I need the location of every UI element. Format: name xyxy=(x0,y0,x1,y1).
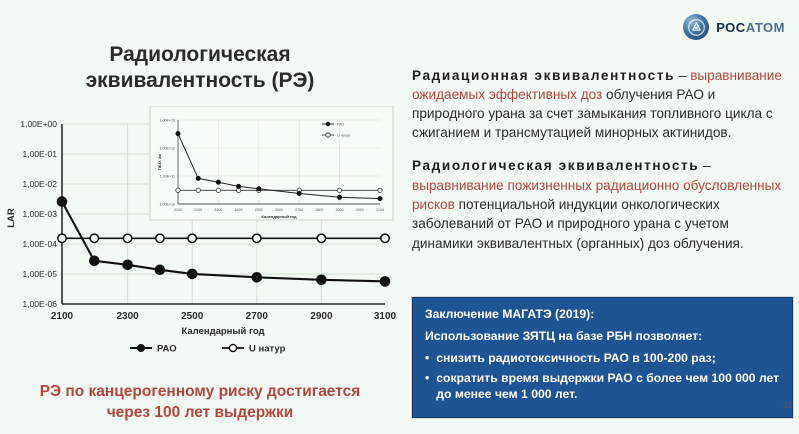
inset-x-tick-10: 3100 xyxy=(376,208,384,212)
main-chart-legend: РАО U натур xyxy=(130,344,286,355)
bullet-icon-1: • xyxy=(425,370,429,403)
chart-title-line2: эквивалентность (РЭ) xyxy=(30,68,370,94)
inset-y-axis-label: ПБО, Зв xyxy=(157,153,162,170)
main-x-tick-labels: 2100 2300 2500 2700 2900 3100 xyxy=(51,311,397,322)
x-tick-0: 2100 xyxy=(51,311,74,322)
iaea-box-item-text-0: снизить радиотоксичность РАО в 100-200 р… xyxy=(436,350,715,366)
inset-x-tick-3: 2400 xyxy=(235,208,243,212)
inset-x-tick-7: 2800 xyxy=(315,208,323,212)
bullet-icon-0: • xyxy=(425,350,429,366)
page-number: 31 xyxy=(783,400,793,410)
inset-legend-label-u-natur: U натур xyxy=(337,134,350,138)
main-y-tick-labels: 1,00E+00 1,00E-01 1,00E-02 1,00E-03 1,00… xyxy=(20,119,57,309)
rosatom-logo: РОСАТОМ xyxy=(683,14,785,40)
x-tick-1: 2300 xyxy=(116,311,139,322)
rosatom-trefoil-icon xyxy=(683,14,709,40)
term-radiation-equivalence: Радиационная эквивалентность xyxy=(412,68,675,83)
left-column: Радиологическая эквивалентность (РЭ) xyxy=(0,34,400,434)
conclusion-note-line1: РЭ по канцерогенному риску достигается xyxy=(10,382,390,403)
y-tick-2: 1,00E-02 xyxy=(23,179,58,189)
rosatom-wordmark: РОСАТОМ xyxy=(716,20,785,35)
definition-radiological-equivalence: Радиологическая эквивалентность – выравн… xyxy=(412,156,787,252)
inset-x-tick-9: 3000 xyxy=(356,208,364,212)
inset-x-tick-6: 2700 xyxy=(295,208,303,212)
inset-y-tick-2: 1,00E+11 xyxy=(160,175,175,179)
right-column: Радиационная эквивалентность – выравнива… xyxy=(412,52,787,266)
y-tick-6: 1,00E-06 xyxy=(23,299,58,309)
x-tick-2: 2500 xyxy=(181,311,204,322)
iaea-box-item-text-1: сократить время выдержки РАО с более чем… xyxy=(436,370,780,403)
iaea-box-subheading: Использование ЗЯТЦ на базе РБН позволяет… xyxy=(425,328,780,345)
y-tick-5: 1,00E-05 xyxy=(23,269,58,279)
inset-x-tick-8: 2900 xyxy=(336,208,344,212)
radiological-equivalence-chart: 1,00E+00 1,00E-01 1,00E-02 1,00E-03 1,00… xyxy=(0,106,400,358)
dash-1: – xyxy=(699,158,710,173)
conclusion-note-line2: через 100 лет выдержки xyxy=(10,403,390,424)
iaea-box-heading: Заключение МАГАТЭ (2019): xyxy=(425,306,780,323)
conclusion-note: РЭ по канцерогенному риску достигается ч… xyxy=(10,382,390,424)
inset-x-tick-5: 2600 xyxy=(275,208,283,212)
y-tick-1: 1,00E-01 xyxy=(23,149,58,159)
inset-x-tick-0: 2100 xyxy=(174,208,182,212)
definition-radiation-equivalence: Радиационная эквивалентность – выравнива… xyxy=(412,66,787,143)
logo-text-bold: РОС xyxy=(716,20,746,35)
iaea-box-item-1: • сократить время выдержки РАО с более ч… xyxy=(425,370,780,403)
logo-text-light: АТОМ xyxy=(746,20,785,35)
rest-1: потенциальной индукции онкологических за… xyxy=(412,197,744,251)
main-y-axis-label: LAR xyxy=(6,208,17,228)
x-tick-3: 2700 xyxy=(246,311,269,322)
dash-0: – xyxy=(675,68,690,83)
chart-title: Радиологическая эквивалентность (РЭ) xyxy=(0,42,400,93)
inset-x-axis-label: Календарный год xyxy=(262,214,297,219)
y-tick-3: 1,00E-03 xyxy=(23,209,58,219)
main-x-axis-label: Календарный год xyxy=(181,326,264,337)
iaea-conclusion-box: Заключение МАГАТЭ (2019): Использование … xyxy=(412,297,793,418)
inset-x-tick-1: 2200 xyxy=(194,208,202,212)
iaea-box-item-0: • снизить радиотоксичность РАО в 100-200… xyxy=(425,350,780,366)
slide: РОСАТОМ Радиологическая эквивалентность … xyxy=(0,0,799,434)
inset-y-tick-1: 1,00E+12 xyxy=(160,147,176,151)
legend-label-u-natur: U натур xyxy=(249,344,286,355)
x-tick-5: 3100 xyxy=(374,311,397,322)
term-radiological-equivalence: Радиологическая эквивалентность xyxy=(412,158,699,173)
y-tick-4: 1,00E-04 xyxy=(23,239,58,249)
inset-y-tick-0: 1,00E+13 xyxy=(160,119,176,123)
inset-x-tick-4: 2500 xyxy=(255,208,263,212)
inset-legend-label-rao: РАО xyxy=(337,123,344,127)
chart-area: 1,00E+00 1,00E-01 1,00E-02 1,00E-03 1,00… xyxy=(0,106,400,356)
x-tick-4: 2900 xyxy=(310,311,333,322)
series-u-natur xyxy=(58,234,389,242)
y-tick-0: 1,00E+00 xyxy=(20,119,57,129)
inset-x-tick-2: 2300 xyxy=(214,208,222,212)
legend-label-rao: РАО xyxy=(157,344,177,355)
chart-title-line1: Радиологическая xyxy=(30,42,370,68)
inset-y-tick-3: 1,00E+10 xyxy=(160,203,176,207)
inset-chart: 1,00E+13 1,00E+12 1,00E+11 1,00E+10 ПБО,… xyxy=(150,106,393,220)
